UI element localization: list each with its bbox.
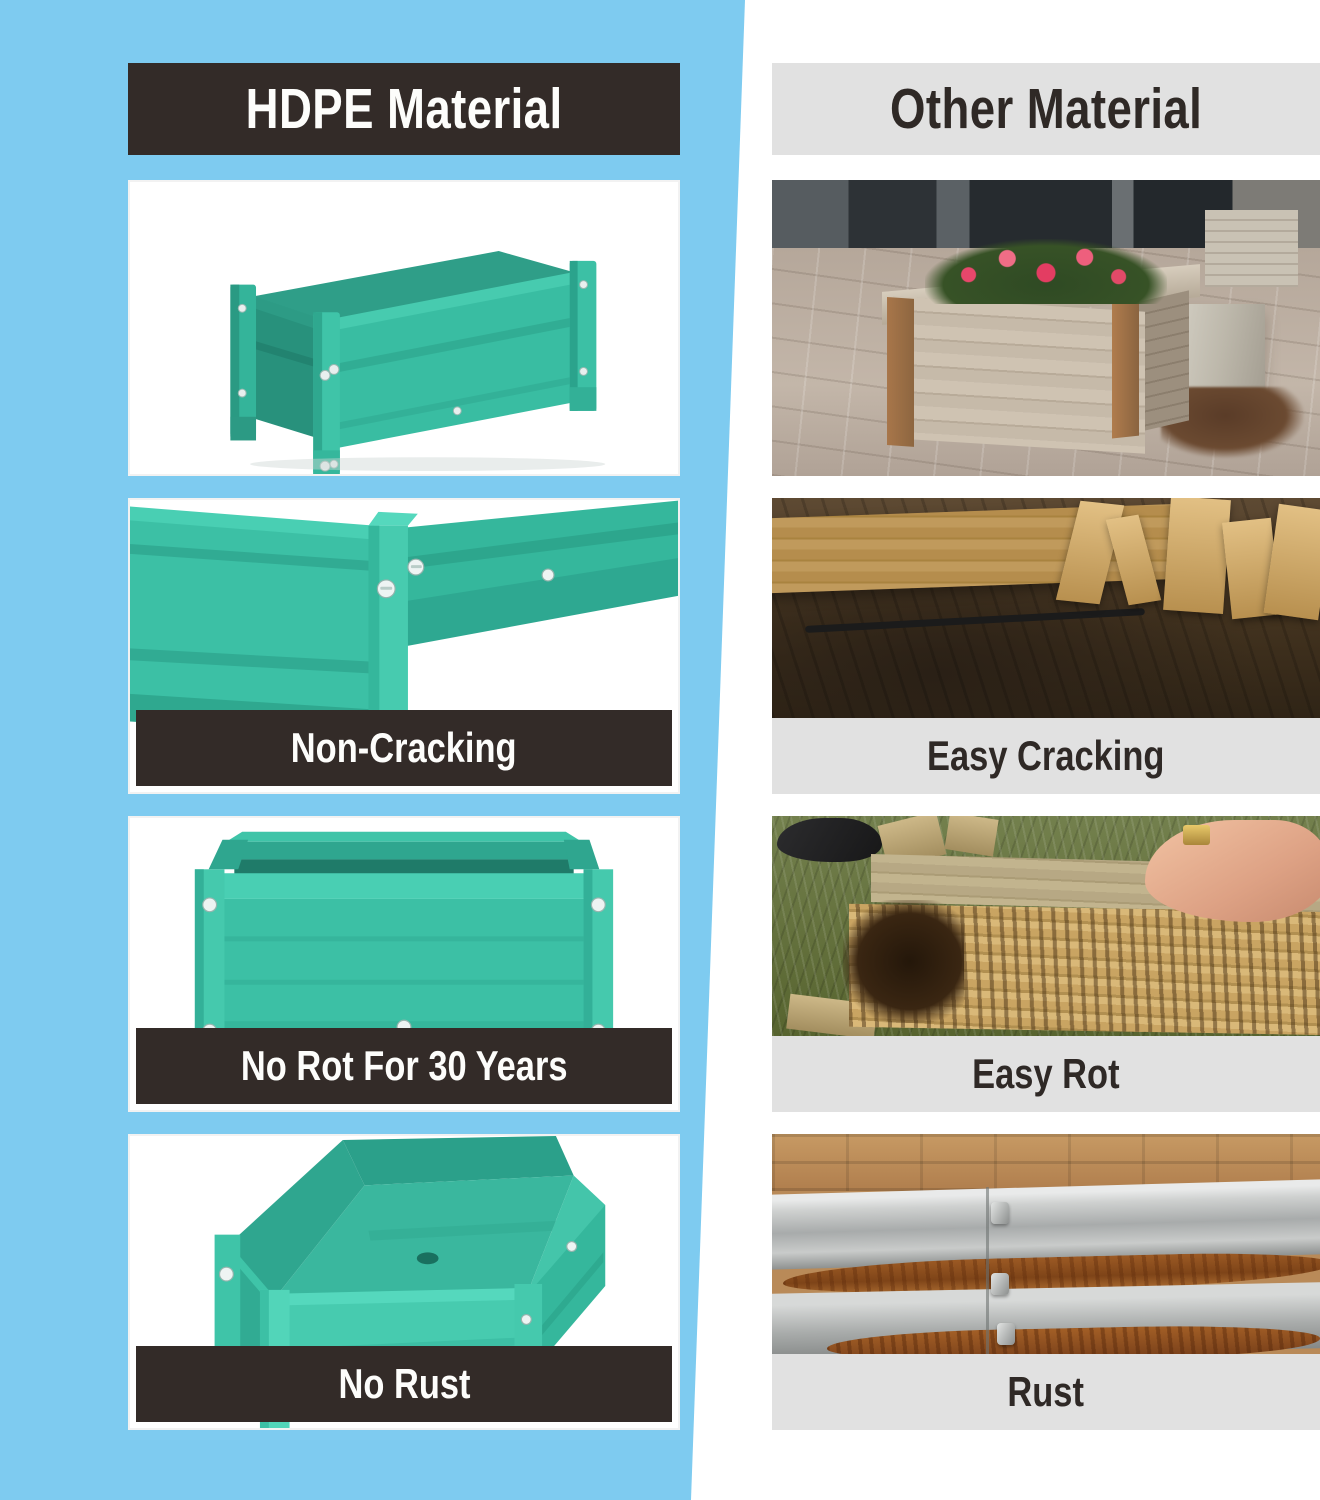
split-splinter — [1163, 498, 1231, 614]
boot — [777, 818, 881, 862]
rotted-plank-in-hand-photo — [772, 816, 1320, 1036]
easy-rot-label: Easy Rot — [972, 1053, 1119, 1095]
hdpe-material-header: HDPE Material — [128, 63, 680, 155]
other-material-header-label: Other Material — [890, 81, 1202, 138]
planter-front-boards — [893, 297, 1145, 454]
hdpe-material-header-label: HDPE Material — [246, 81, 563, 138]
hdpe-card-non-cracking: Non-Cracking — [128, 498, 680, 794]
easy-rot-band: Easy Rot — [772, 1036, 1320, 1112]
rusted-metal-edging-photo — [772, 1134, 1320, 1354]
non-cracking-label: Non-Cracking — [291, 727, 517, 769]
other-card-rust: Rust — [772, 1134, 1320, 1430]
bolt — [997, 1323, 1015, 1345]
rust-label: Rust — [1008, 1371, 1085, 1413]
rot-decay-patch — [843, 900, 964, 1023]
no-rot-label: No Rot For 30 Years — [241, 1045, 568, 1087]
rust-band: Rust — [772, 1354, 1320, 1430]
hdpe-card-no-rust: No Rust — [128, 1134, 680, 1430]
no-rot-band: No Rot For 30 Years — [136, 1028, 672, 1104]
other-card-weathered-planter — [772, 180, 1320, 476]
hdpe-card-angled-planter — [128, 180, 680, 476]
easy-cracking-band: Easy Cracking — [772, 718, 1320, 794]
hdpe-card-no-rot: No Rot For 30 Years — [128, 816, 680, 1112]
planter-angled-3q-illustration — [130, 182, 678, 474]
stone-column — [1205, 210, 1298, 287]
panel-seam — [986, 1187, 989, 1354]
pink-flowers — [925, 239, 1166, 304]
hdpe-material-column: HDPE Material — [128, 0, 680, 1430]
non-cracking-band: Non-Cracking — [136, 710, 672, 786]
other-card-easy-rot: Easy Rot — [772, 816, 1320, 1112]
bolt — [991, 1273, 1009, 1295]
cracked-split-boards-photo — [772, 498, 1320, 718]
planter-post-left — [887, 297, 914, 447]
easy-cracking-label: Easy Cracking — [927, 735, 1164, 777]
no-rust-label: No Rust — [338, 1363, 470, 1405]
other-card-easy-cracking: Easy Cracking — [772, 498, 1320, 794]
bolt — [991, 1202, 1009, 1224]
other-material-column: Other Material E — [772, 0, 1320, 1430]
weathered-wood-planter-photo — [772, 180, 1320, 476]
planter-post-right — [1112, 294, 1139, 439]
finger-ring — [1183, 825, 1210, 845]
no-rust-band: No Rust — [136, 1346, 672, 1422]
other-material-header: Other Material — [772, 63, 1320, 155]
